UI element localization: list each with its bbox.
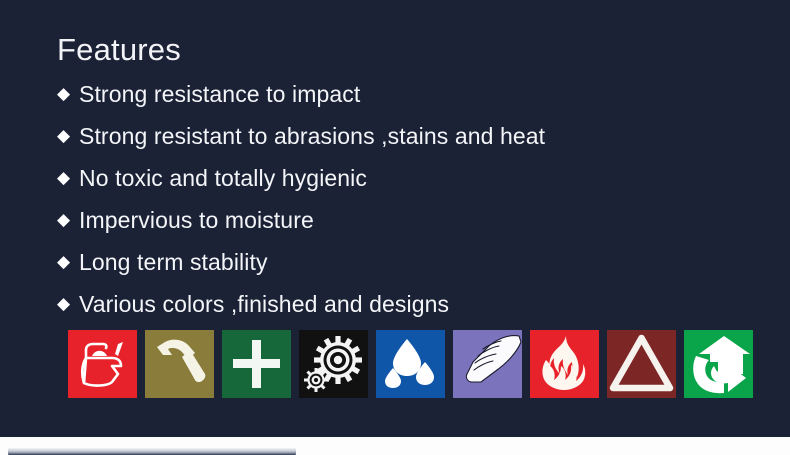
gears-icon bbox=[299, 330, 368, 398]
easy-clean-hand-icon bbox=[453, 330, 522, 398]
hygienic-cross-icon bbox=[222, 330, 291, 398]
list-item: ◆ Long term stability bbox=[57, 246, 757, 288]
page-title: Features bbox=[57, 31, 181, 69]
property-icon-strip bbox=[68, 330, 753, 398]
heat-resistant-icon bbox=[68, 330, 137, 398]
features-list: ◆ Strong resistance to impact ◆ Strong r… bbox=[57, 78, 757, 330]
list-item-label: Strong resistance to impact bbox=[79, 78, 757, 110]
diamond-bullet-icon: ◆ bbox=[57, 204, 79, 236]
impact-hammer-icon bbox=[145, 330, 214, 398]
list-item: ◆ Various colors ,finished and designs bbox=[57, 288, 757, 330]
list-item-label: Impervious to moisture bbox=[79, 204, 757, 236]
list-item-label: Various colors ,finished and designs bbox=[79, 288, 757, 320]
list-item-label: Strong resistant to abrasions ,stains an… bbox=[79, 120, 757, 152]
diamond-bullet-icon: ◆ bbox=[57, 288, 79, 320]
content-panel: Features ◆ Strong resistance to impact ◆… bbox=[0, 0, 790, 437]
diamond-bullet-icon: ◆ bbox=[57, 78, 79, 110]
list-item: ◆ Impervious to moisture bbox=[57, 204, 757, 246]
diamond-bullet-icon: ◆ bbox=[57, 120, 79, 152]
diamond-bullet-icon: ◆ bbox=[57, 162, 79, 194]
slide-canvas: Features ◆ Strong resistance to impact ◆… bbox=[0, 0, 790, 455]
flame-icon bbox=[530, 330, 599, 398]
list-item: ◆ Strong resistant to abrasions ,stains … bbox=[57, 120, 757, 162]
water-droplets-icon bbox=[376, 330, 445, 398]
list-item: ◆ No toxic and totally hygienic bbox=[57, 162, 757, 204]
house-in-hand-icon bbox=[684, 330, 753, 398]
list-item-label: No toxic and totally hygienic bbox=[79, 162, 757, 194]
list-item: ◆ Strong resistance to impact bbox=[57, 78, 757, 120]
bottom-thumbnail-sliver[interactable] bbox=[8, 448, 296, 455]
diamond-bullet-icon: ◆ bbox=[57, 246, 79, 278]
list-item-label: Long term stability bbox=[79, 246, 757, 278]
warning-triangle-icon bbox=[607, 330, 676, 398]
